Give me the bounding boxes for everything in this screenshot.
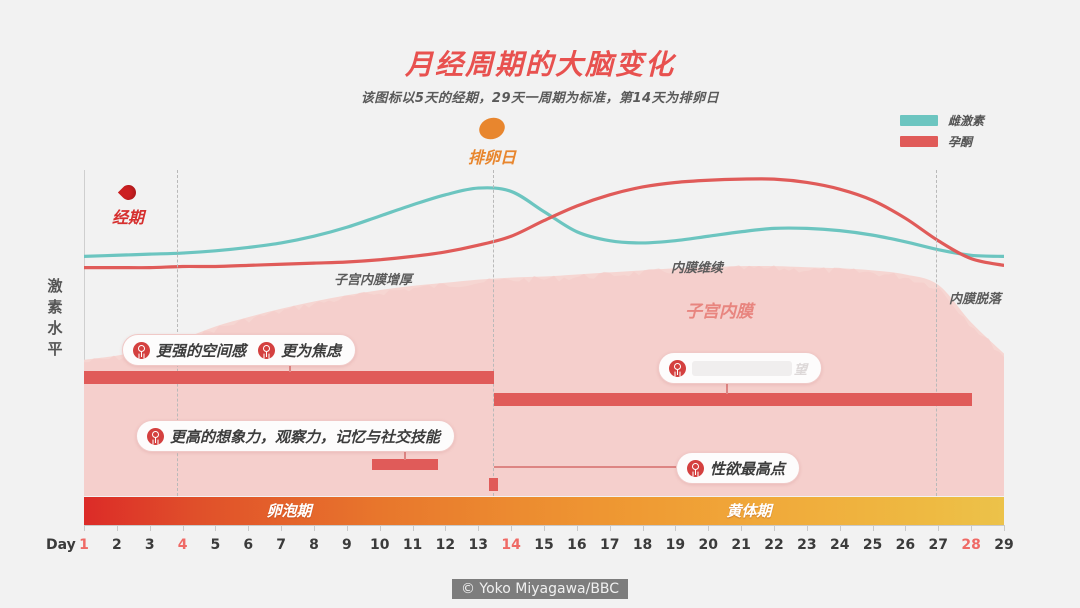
fact-segment-anxiety: 更为焦虑	[258, 340, 341, 361]
day-number-11: 11	[401, 537, 425, 553]
fact-pill-imagination[interactable]: 更高的想象力，观察力，记忆与社交技能	[136, 420, 455, 452]
venus-icon	[669, 360, 686, 377]
day-number-4: 4	[171, 537, 195, 553]
phase-label-follicular: 卵泡期	[84, 497, 494, 525]
note-endometrium-thickening: 子宫内膜增厚	[334, 269, 412, 288]
day-number-27: 27	[926, 537, 950, 553]
day-number-12: 12	[433, 537, 457, 553]
connector-redacted	[726, 383, 728, 394]
day-tick-29	[1004, 525, 1005, 531]
day-tick-21	[741, 525, 742, 531]
legend-label-progesterone: 孕酮	[948, 133, 972, 150]
day-number-15: 15	[532, 537, 556, 553]
day-tick-6	[248, 525, 249, 531]
fact-text-anxiety: 更为焦虑	[281, 340, 341, 361]
page-title: 月经周期的大脑变化	[0, 43, 1080, 83]
page-subtitle: 该图标以5天的经期，29天一周期为标准，第14天为排卵日	[0, 87, 1080, 106]
connector-libido-horizontal	[494, 466, 676, 468]
day-tick-5	[215, 525, 216, 531]
day-number-17: 17	[598, 537, 622, 553]
day-number-28: 28	[959, 537, 983, 553]
day-tick-26	[905, 525, 906, 531]
day-tick-28	[971, 525, 972, 531]
marker-ovulation: 排卵日	[451, 118, 533, 168]
day-number-16: 16	[565, 537, 589, 553]
duration-bar-libido	[489, 478, 498, 491]
day-number-22: 22	[762, 537, 786, 553]
label-endometrium: 子宫内膜	[685, 297, 753, 322]
redacted-text-tail: 望	[794, 359, 807, 378]
day-number-5: 5	[203, 537, 227, 553]
legend-swatch-estrogen	[900, 115, 938, 126]
note-endometrium-maintained: 内膜维续	[671, 257, 723, 276]
day-number-24: 24	[828, 537, 852, 553]
day-tick-20	[708, 525, 709, 531]
credit-line: © Yoko Miyagawa/BBC	[0, 578, 1080, 599]
day-tick-27	[938, 525, 939, 531]
day-tick-10	[380, 525, 381, 531]
fact-pill-redacted[interactable]: 望	[658, 352, 822, 384]
curve-progesterone	[84, 179, 1004, 268]
day-tick-1	[84, 525, 85, 531]
day-number-26: 26	[893, 537, 917, 553]
fact-segment-libido: 性欲最高点	[687, 458, 785, 479]
fact-pill-spatial-anxiety[interactable]: 更强的空间感 更为焦虑	[122, 334, 356, 366]
egg-icon	[476, 114, 507, 142]
fact-text-spatial: 更强的空间感	[156, 340, 246, 361]
day-number-23: 23	[795, 537, 819, 553]
day-tick-14	[511, 525, 512, 531]
redacted-text-block	[692, 361, 792, 376]
day-tick-18	[643, 525, 644, 531]
venus-icon	[133, 342, 150, 359]
legend: 雌激素 孕酮	[900, 112, 984, 154]
day-number-29: 29	[992, 537, 1016, 553]
day-number-14: 14	[499, 537, 523, 553]
phase-label-luteal: 黄体期	[494, 497, 1004, 525]
marker-ovulation-label: 排卵日	[451, 144, 533, 168]
duration-bar-redacted	[494, 393, 972, 406]
guide-day28	[936, 170, 937, 496]
legend-swatch-progesterone	[900, 136, 938, 147]
fact-segment-spatial: 更强的空间感	[133, 340, 246, 361]
day-number-10: 10	[368, 537, 392, 553]
credit-text: © Yoko Miyagawa/BBC	[452, 579, 628, 599]
fact-text-imagination: 更高的想象力，观察力，记忆与社交技能	[170, 426, 440, 447]
day-number-20: 20	[696, 537, 720, 553]
day-number-1: 1	[72, 537, 96, 553]
fact-segment-imagination: 更高的想象力，观察力，记忆与社交技能	[147, 426, 440, 447]
fact-pill-libido[interactable]: 性欲最高点	[676, 452, 800, 484]
y-axis-label: 激素水平	[44, 276, 66, 360]
day-tick-3	[150, 525, 151, 531]
infographic-root: 月经周期的大脑变化 该图标以5天的经期，29天一周期为标准，第14天为排卵日 雌…	[0, 0, 1080, 608]
day-tick-4	[183, 525, 184, 531]
day-tick-11	[413, 525, 414, 531]
legend-item-progesterone: 孕酮	[900, 133, 984, 150]
day-number-8: 8	[302, 537, 326, 553]
venus-icon	[258, 342, 275, 359]
day-tick-16	[577, 525, 578, 531]
day-number-6: 6	[236, 537, 260, 553]
day-number-3: 3	[138, 537, 162, 553]
blood-drop-icon	[117, 182, 138, 203]
day-tick-19	[675, 525, 676, 531]
day-tick-2	[117, 525, 118, 531]
day-number-18: 18	[631, 537, 655, 553]
fact-text-libido: 性欲最高点	[710, 458, 785, 479]
marker-period: 经期	[88, 185, 168, 228]
day-number-21: 21	[729, 537, 753, 553]
fact-segment-redacted: 望	[669, 359, 807, 378]
venus-icon	[147, 428, 164, 445]
day-number-25: 25	[861, 537, 885, 553]
day-tick-15	[544, 525, 545, 531]
day-number-2: 2	[105, 537, 129, 553]
legend-item-estrogen: 雌激素	[900, 112, 984, 129]
day-tick-25	[873, 525, 874, 531]
day-tick-13	[478, 525, 479, 531]
day-tick-8	[314, 525, 315, 531]
note-endometrium-shedding: 内膜脱落	[949, 288, 1001, 307]
marker-period-label: 经期	[88, 204, 168, 228]
day-tick-9	[347, 525, 348, 531]
day-tick-17	[610, 525, 611, 531]
day-tick-22	[774, 525, 775, 531]
day-number-19: 19	[663, 537, 687, 553]
legend-label-estrogen: 雌激素	[948, 112, 984, 129]
guide-day14	[493, 170, 494, 496]
duration-bar-imagination	[372, 459, 438, 470]
day-number-7: 7	[269, 537, 293, 553]
day-tick-24	[840, 525, 841, 531]
duration-bar-spatial-anxiety	[84, 371, 494, 384]
day-tick-12	[445, 525, 446, 531]
day-tick-23	[807, 525, 808, 531]
day-tick-7	[281, 525, 282, 531]
day-number-9: 9	[335, 537, 359, 553]
venus-icon	[687, 460, 704, 477]
day-number-13: 13	[466, 537, 490, 553]
